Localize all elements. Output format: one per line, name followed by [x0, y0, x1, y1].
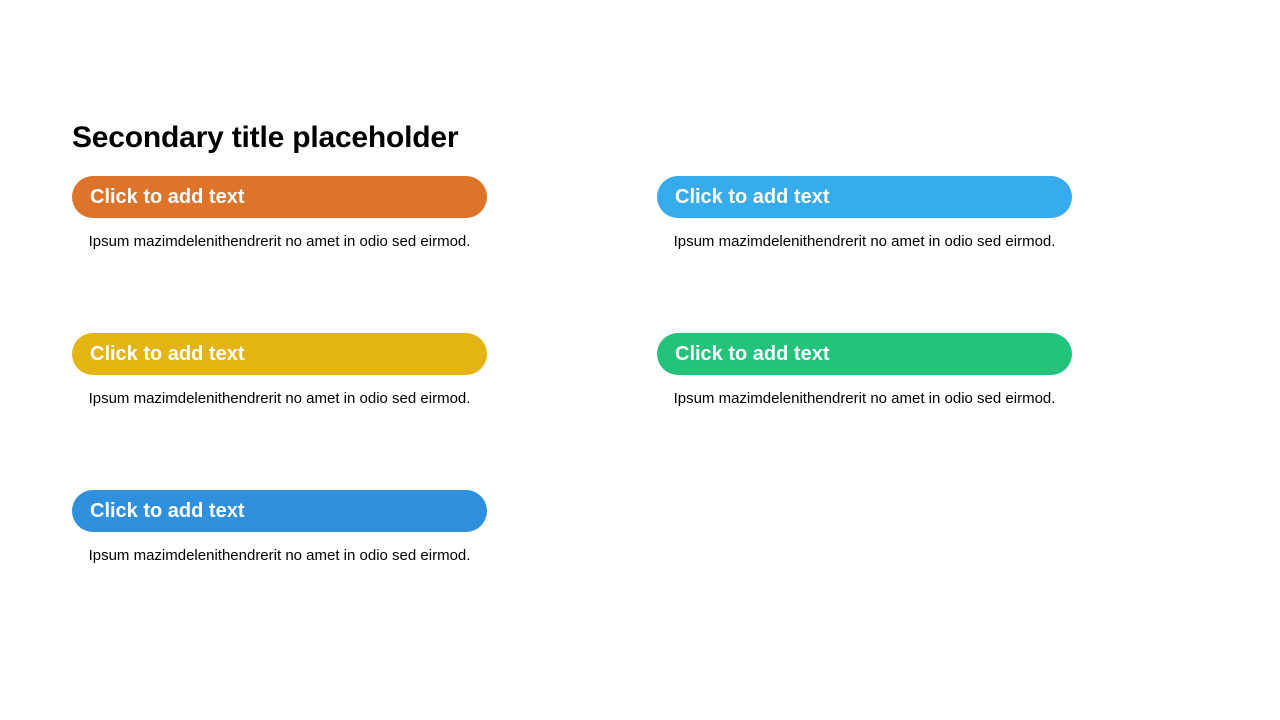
card-item: Click to add text Ipsum mazimdelenithend…: [657, 176, 1072, 333]
add-text-placeholder-label: Click to add text: [90, 501, 244, 521]
card-caption: Ipsum mazimdelenithendrerit no amet in o…: [72, 389, 487, 409]
slide-canvas: Secondary title placeholder Click to add…: [0, 0, 1280, 720]
add-text-placeholder-button[interactable]: Click to add text: [657, 333, 1072, 375]
card-caption: Ipsum mazimdelenithendrerit no amet in o…: [657, 232, 1072, 252]
add-text-placeholder-label: Click to add text: [90, 344, 244, 364]
card-grid: Click to add text Ipsum mazimdelenithend…: [72, 176, 1072, 647]
card-item: Click to add text Ipsum mazimdelenithend…: [72, 176, 487, 333]
card-caption: Ipsum mazimdelenithendrerit no amet in o…: [657, 389, 1072, 409]
card-item: Click to add text Ipsum mazimdelenithend…: [657, 333, 1072, 490]
add-text-placeholder-label: Click to add text: [675, 187, 829, 207]
card-caption: Ipsum mazimdelenithendrerit no amet in o…: [72, 546, 487, 566]
add-text-placeholder-button[interactable]: Click to add text: [72, 176, 487, 218]
card-item: Click to add text Ipsum mazimdelenithend…: [72, 490, 487, 647]
page-title: Secondary title placeholder: [72, 118, 1072, 158]
card-caption: Ipsum mazimdelenithendrerit no amet in o…: [72, 232, 487, 252]
content-area: Secondary title placeholder Click to add…: [72, 118, 1072, 647]
add-text-placeholder-label: Click to add text: [675, 344, 829, 364]
add-text-placeholder-button[interactable]: Click to add text: [72, 490, 487, 532]
card-item: Click to add text Ipsum mazimdelenithend…: [72, 333, 487, 490]
add-text-placeholder-button[interactable]: Click to add text: [72, 333, 487, 375]
add-text-placeholder-button[interactable]: Click to add text: [657, 176, 1072, 218]
add-text-placeholder-label: Click to add text: [90, 187, 244, 207]
